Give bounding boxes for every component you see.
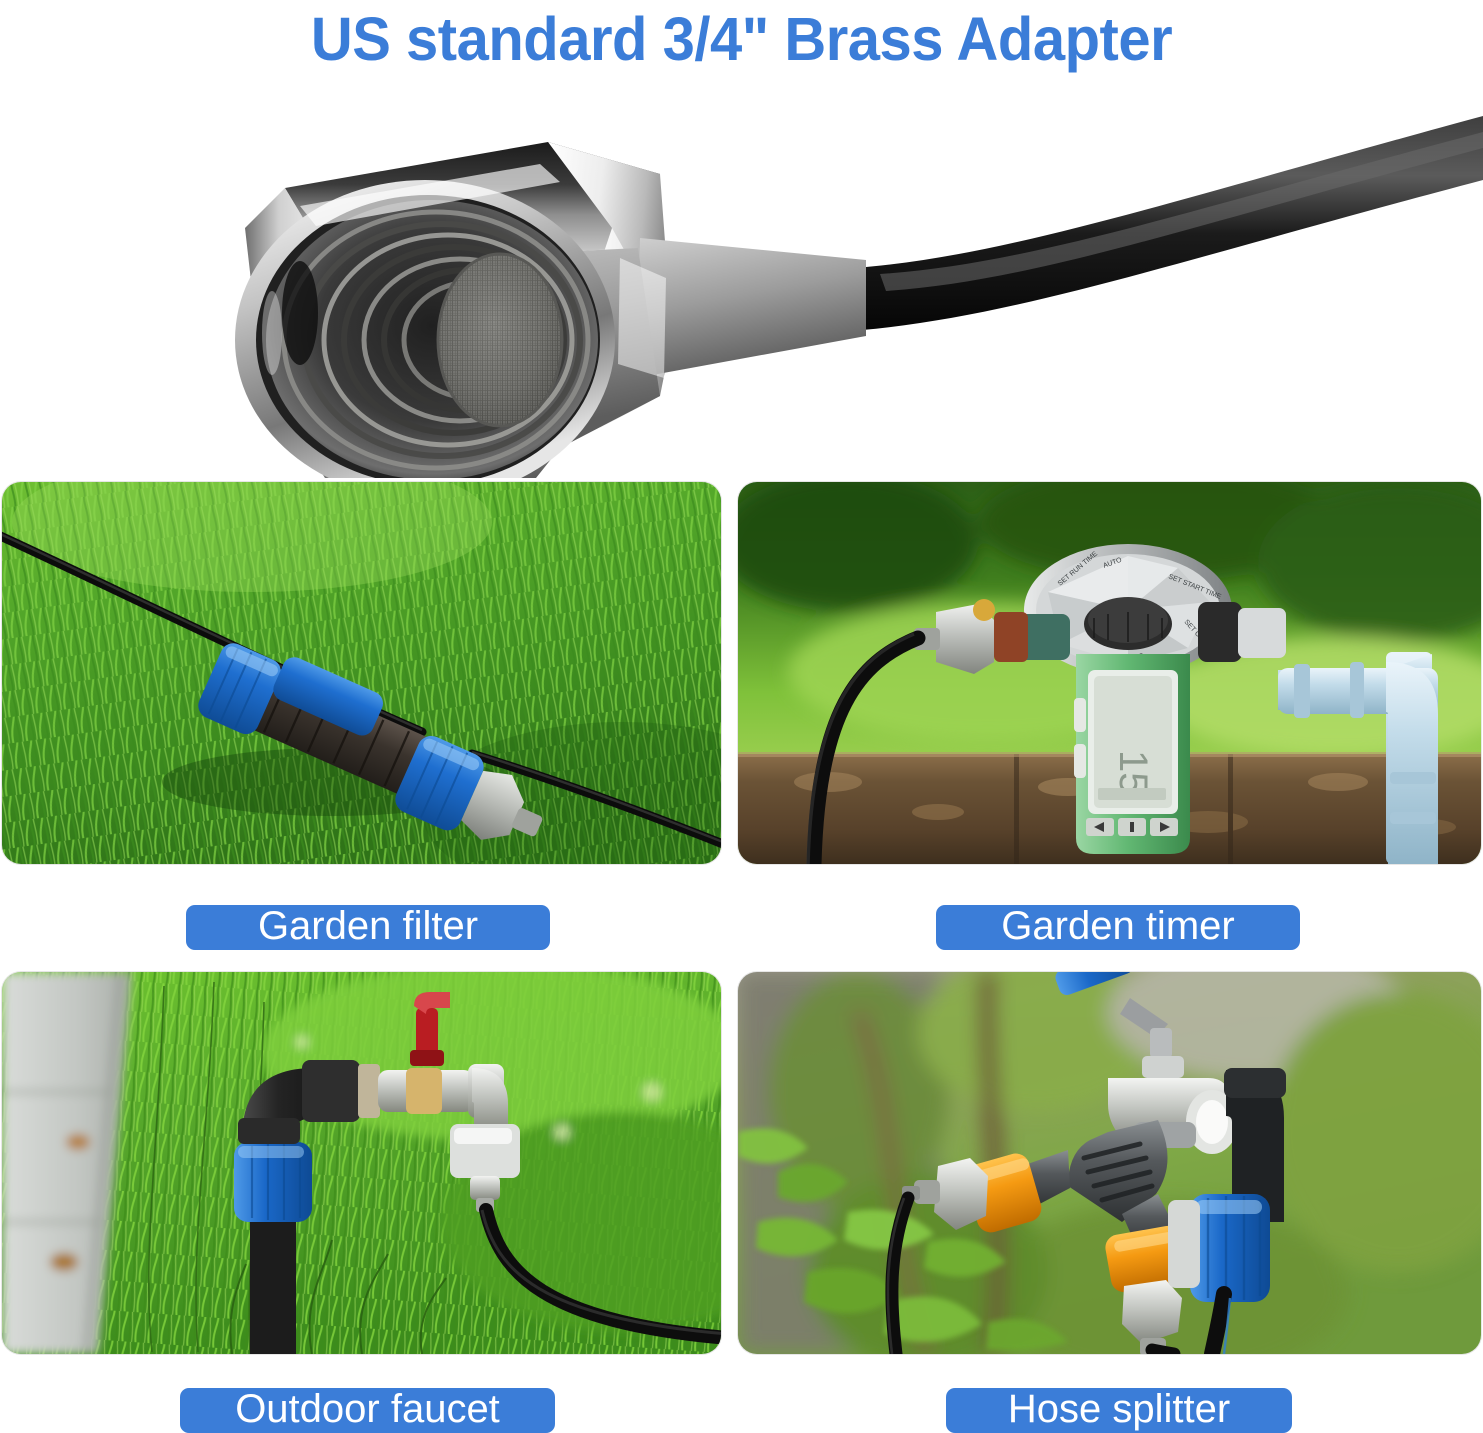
timer-side-button-2 (1074, 744, 1086, 778)
panel-label-hose-splitter: Hose splitter (946, 1388, 1292, 1433)
panel-hose-splitter[interactable] (738, 972, 1481, 1354)
timer-outlet (1198, 602, 1286, 662)
panel-label-garden-filter: Garden filter (186, 905, 550, 950)
hero-product-image (0, 78, 1483, 478)
svg-text:15: 15 (1111, 750, 1155, 795)
panel-label-outdoor-faucet: Outdoor faucet (180, 1388, 555, 1433)
panel-garden-filter[interactable] (2, 482, 721, 864)
splitter-hose-bottom (1152, 1350, 1174, 1354)
timer-side-button-1 (1074, 698, 1086, 732)
panel-label-garden-timer: Garden timer (936, 905, 1300, 950)
page-title: US standard 3/4" Brass Adapter (37, 0, 1446, 78)
panel-garden-timer[interactable]: AUTO SET START TIME SET RUN TIME SET CLO… (738, 482, 1481, 864)
panel-outdoor-faucet[interactable] (2, 972, 721, 1354)
blue-fitting-right (1168, 1194, 1270, 1302)
timer-arrow-buttons (1086, 818, 1178, 836)
